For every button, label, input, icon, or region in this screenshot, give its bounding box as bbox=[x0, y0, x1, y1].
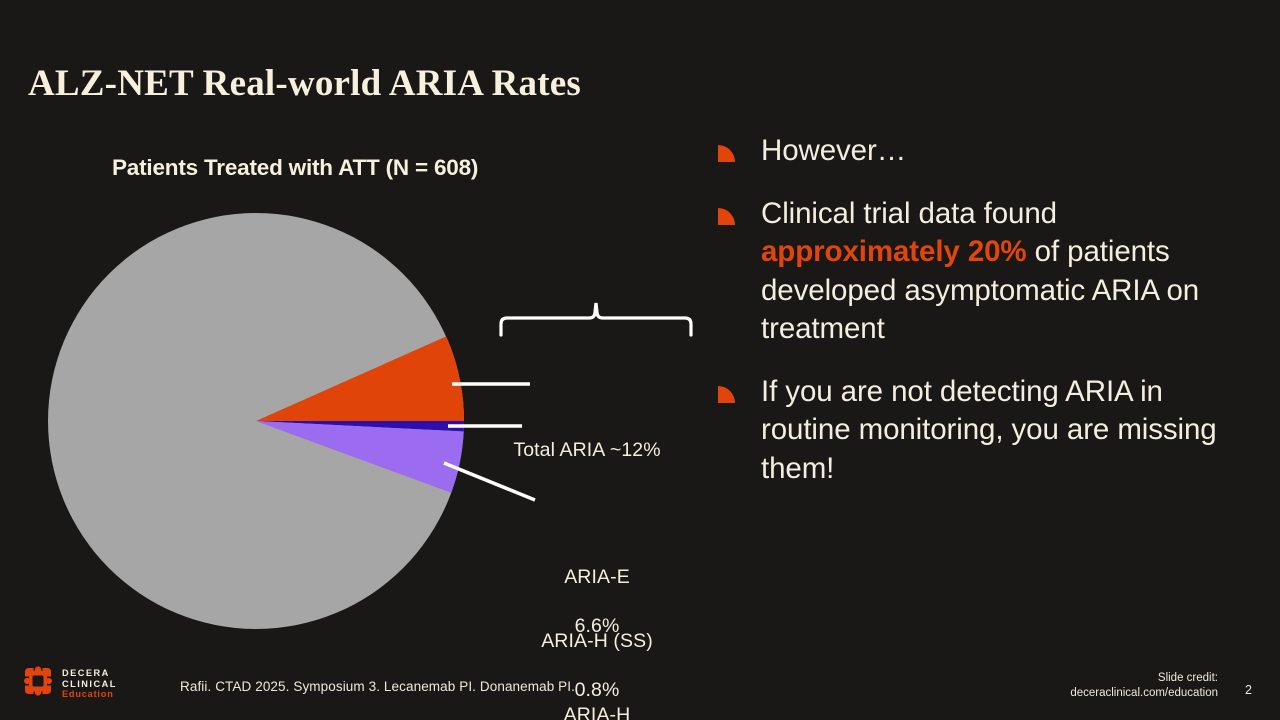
bullet-item-1-text: However… bbox=[761, 132, 1248, 171]
citation-text: Rafii. CTAD 2025. Symposium 3. Lecanemab… bbox=[180, 679, 575, 694]
decera-logo-wordmark: DECERA CLINICAL Education bbox=[62, 668, 117, 700]
slide-credit: Slide credit: deceraclinical.com/educati… bbox=[1070, 671, 1218, 701]
slide-credit-url[interactable]: deceraclinical.com/education bbox=[1070, 686, 1218, 701]
slide-root: ALZ-NET Real-world ARIA Rates Patients T… bbox=[0, 0, 1280, 720]
bullet-item-3: If you are not detecting ARIA in routine… bbox=[718, 373, 1248, 489]
logo-line-2: CLINICAL bbox=[62, 679, 117, 690]
bullet-2-pre: Clinical trial data found bbox=[761, 197, 1057, 230]
quarter-circle-bullet-icon bbox=[718, 208, 735, 225]
bullet-list: However… Clinical trial data found appro… bbox=[718, 132, 1248, 512]
chart-title: Patients Treated with ATT (N = 608) bbox=[112, 155, 478, 181]
label-aria-e-name: ARIA-E bbox=[474, 565, 720, 590]
slide-credit-label: Slide credit: bbox=[1070, 671, 1218, 686]
quarter-circle-bullet-icon bbox=[718, 145, 735, 162]
quarter-circle-bullet-icon bbox=[718, 386, 735, 403]
label-aria-h-ss-name: ARIA-H (SS) bbox=[474, 629, 720, 654]
bullet-item-2: Clinical trial data found approximately … bbox=[718, 195, 1248, 349]
logo-line-1: DECERA bbox=[62, 668, 117, 679]
total-aria-bracket bbox=[501, 303, 691, 335]
bullet-item-2-text: Clinical trial data found approximately … bbox=[761, 195, 1248, 349]
decera-logo-icon bbox=[22, 665, 54, 697]
bullet-1-pre: However… bbox=[761, 134, 906, 167]
bullet-3-pre: If you are not detecting ARIA in routine… bbox=[761, 375, 1217, 485]
bullet-item-1: However… bbox=[718, 132, 1248, 171]
logo-line-3: Education bbox=[62, 689, 117, 700]
label-aria-h-microhemorrhage-name: ARIA-H (microhemorrhage) bbox=[464, 703, 730, 720]
bullet-2-highlight: approximately 20% bbox=[761, 235, 1027, 268]
page-number: 2 bbox=[1245, 683, 1252, 697]
page-title: ALZ-NET Real-world ARIA Rates bbox=[28, 62, 581, 105]
leader-line-aria-h-microhemorrhage bbox=[444, 463, 535, 500]
bullet-item-3-text: If you are not detecting ARIA in routine… bbox=[761, 373, 1248, 489]
pie-chart: Total ARIA ~12% ARIA-E 6.6% ARIA-H (SS) … bbox=[0, 190, 720, 660]
label-total-aria: Total ARIA ~12% bbox=[464, 438, 710, 463]
